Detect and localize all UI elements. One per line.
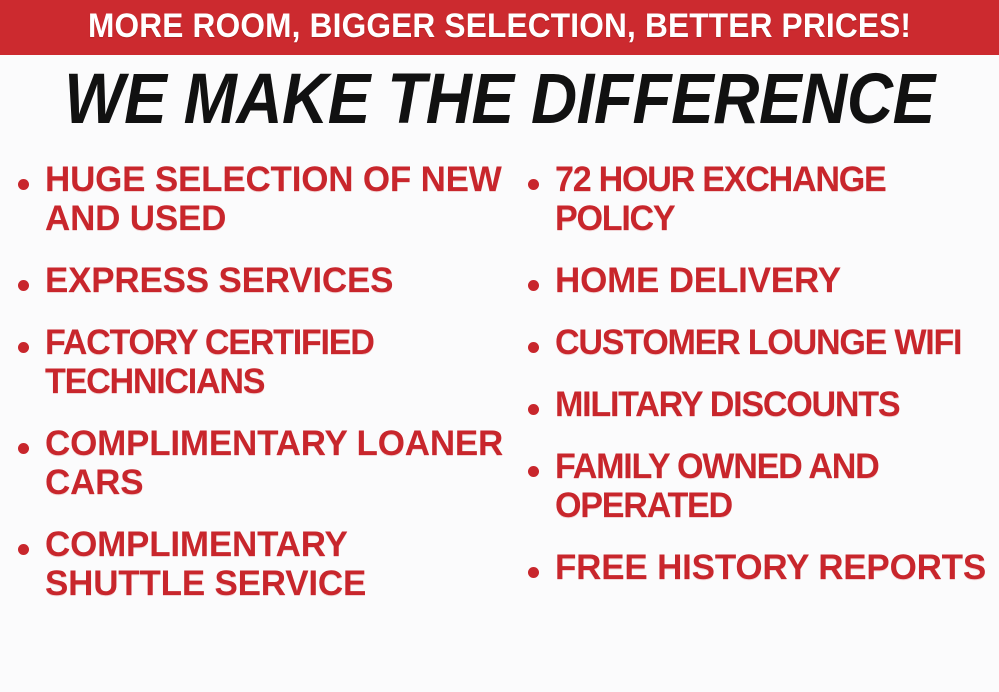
list-item-label: HOME DELIVERY [555, 261, 841, 300]
list-item-label: HUGE SELECTION OF NEW AND USED [45, 160, 510, 238]
list-item: COMPLIMENTARY SHUTTLE SERVICE [18, 525, 510, 603]
benefits-column-right: 72 HOUR EXCHANGE POLICY HOME DELIVERY CU… [510, 160, 999, 610]
bullet-dot-icon [18, 280, 29, 291]
list-item-label: COMPLIMENTARY LOANER CARS [45, 424, 510, 502]
benefits-column-left: HUGE SELECTION OF NEW AND USED EXPRESS S… [0, 160, 510, 626]
bullet-dot-icon [528, 567, 539, 578]
banner-headline-text: MORE ROOM, BIGGER SELECTION, BETTER PRIC… [88, 9, 911, 43]
bullet-dot-icon [18, 544, 29, 555]
list-item-label: COMPLIMENTARY SHUTTLE SERVICE [45, 525, 510, 603]
bullet-dot-icon [528, 342, 539, 353]
list-item: 72 HOUR EXCHANGE POLICY [528, 160, 999, 238]
list-item: COMPLIMENTARY LOANER CARS [18, 424, 510, 502]
list-item-label: MILITARY DISCOUNTS [555, 385, 899, 424]
bullet-dot-icon [528, 404, 539, 415]
bullet-dot-icon [528, 466, 539, 477]
promotional-poster: MORE ROOM, BIGGER SELECTION, BETTER PRIC… [0, 0, 999, 692]
list-item-label: 72 HOUR EXCHANGE POLICY [555, 160, 988, 238]
list-item: FAMILY OWNED AND OPERATED [528, 447, 999, 525]
list-item-label: FREE HISTORY REPORTS [555, 548, 986, 587]
list-item-label: FAMILY OWNED AND OPERATED [555, 447, 988, 525]
bullet-dot-icon [18, 179, 29, 190]
list-item-label: EXPRESS SERVICES [45, 261, 393, 300]
bullet-dot-icon [528, 280, 539, 291]
list-item: HOME DELIVERY [528, 261, 999, 300]
benefits-columns: HUGE SELECTION OF NEW AND USED EXPRESS S… [0, 160, 999, 690]
list-item-label: FACTORY CERTIFIED TECHNICIANS [45, 323, 498, 401]
list-item: CUSTOMER LOUNGE WIFI [528, 323, 999, 362]
list-item: MILITARY DISCOUNTS [528, 385, 999, 424]
list-item: FACTORY CERTIFIED TECHNICIANS [18, 323, 510, 401]
bullet-dot-icon [528, 179, 539, 190]
list-item: HUGE SELECTION OF NEW AND USED [18, 160, 510, 238]
list-item: EXPRESS SERVICES [18, 261, 510, 300]
top-banner: MORE ROOM, BIGGER SELECTION, BETTER PRIC… [0, 0, 999, 55]
page-title: WE MAKE THE DIFFERENCE [50, 62, 949, 138]
list-item-label: CUSTOMER LOUNGE WIFI [555, 323, 961, 362]
bullet-dot-icon [18, 342, 29, 353]
bullet-dot-icon [18, 443, 29, 454]
list-item: FREE HISTORY REPORTS [528, 548, 999, 587]
